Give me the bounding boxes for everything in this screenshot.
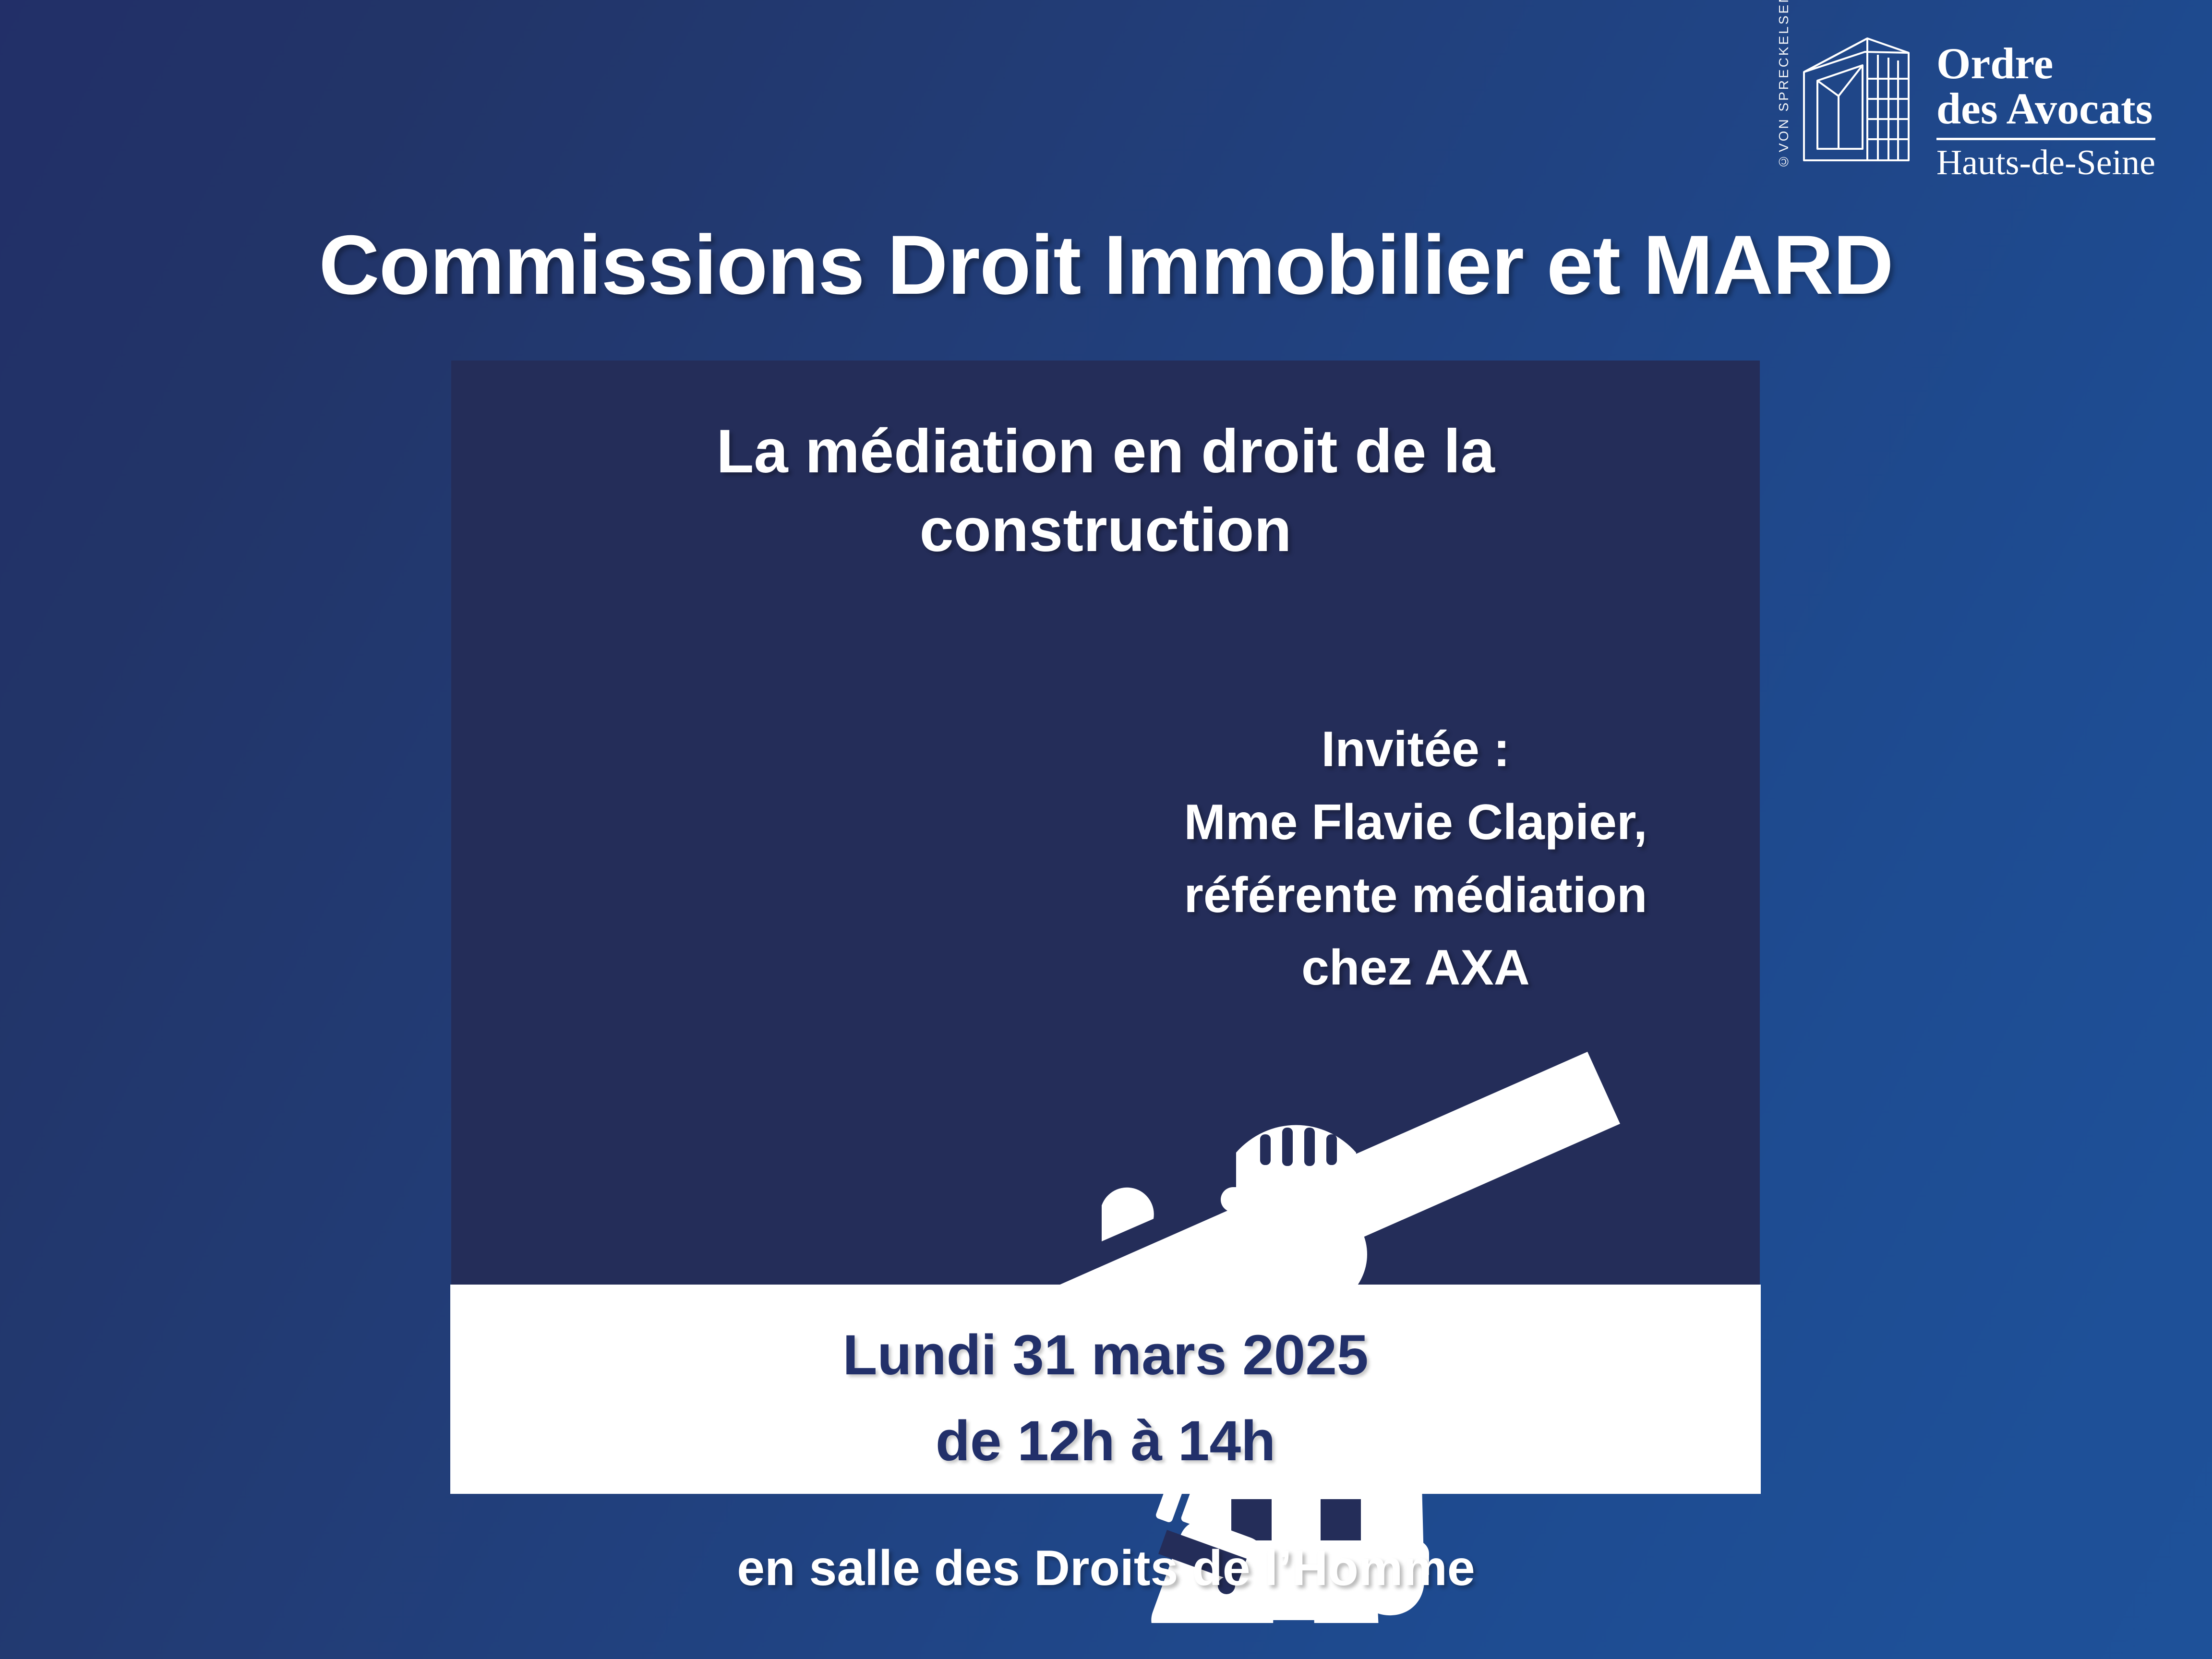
guest-label: Invitée : (1120, 713, 1711, 786)
event-time: de 12h à 14h (450, 1398, 1761, 1484)
logo-wordmark: Ordre des Avocats Hauts-de-Seine (1936, 35, 2155, 180)
guest-role: référente médiation (1120, 859, 1711, 932)
logo-credit-text: ©VON SPRECKELSEN (1777, 61, 1791, 169)
grande-arche-building-icon (1795, 35, 1920, 174)
logo-line-des-avocats: des Avocats (1936, 85, 2155, 132)
bar-association-logo: ©VON SPRECKELSEN (1777, 35, 2155, 179)
content-panel: La médiation en droit de la construction… (451, 361, 1760, 1285)
event-poster: ©VON SPRECKELSEN (0, 0, 2212, 1659)
event-location: en salle des Droits de l’Homme (0, 1540, 2212, 1597)
event-subtitle: La médiation en droit de la construction (514, 412, 1697, 570)
guest-name: Mme Flavie Clapier, (1120, 786, 1711, 859)
guest-speaker-block: Invitée : Mme Flavie Clapier, référente … (1120, 713, 1711, 1005)
event-date-box: Lundi 31 mars 2025 de 12h à 14h (450, 1285, 1761, 1494)
logo-divider (1936, 138, 2155, 140)
event-subtitle-line-2: construction (514, 491, 1697, 570)
event-subtitle-line-1: La médiation en droit de la (514, 412, 1697, 491)
page-title: Commissions Droit Immobilier et MARD (0, 217, 2212, 313)
logo-line-hauts-de-seine: Hauts-de-Seine (1936, 145, 2155, 180)
event-date: Lundi 31 mars 2025 (450, 1312, 1761, 1398)
logo-line-ordre: Ordre (1936, 41, 2155, 85)
event-date-time: Lundi 31 mars 2025 de 12h à 14h (450, 1312, 1761, 1485)
